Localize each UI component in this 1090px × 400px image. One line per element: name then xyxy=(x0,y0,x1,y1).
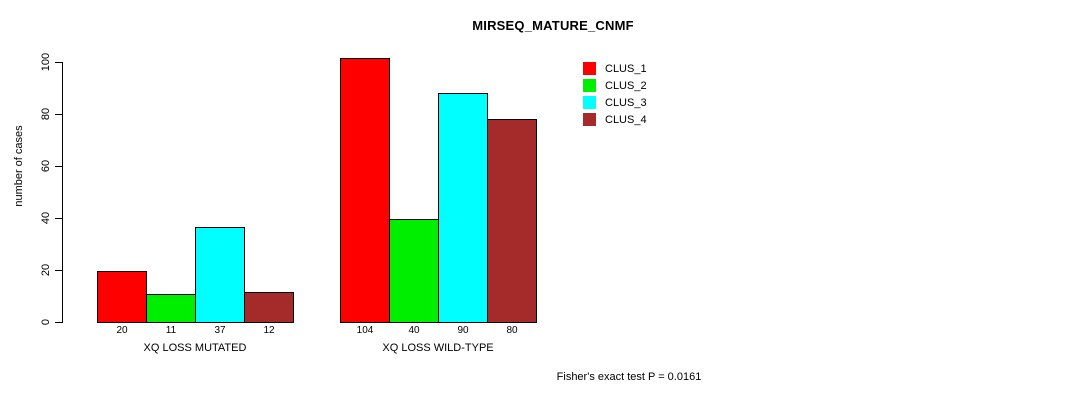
bar-clus1-wildtype xyxy=(340,58,390,323)
bar-clus4-wildtype xyxy=(487,119,537,323)
legend-label-clus1: CLUS_1 xyxy=(605,63,647,75)
legend-item-clus2: CLUS_2 xyxy=(583,77,647,94)
bar-value-label: 90 xyxy=(438,325,488,336)
plot-area: 20 11 37 12 XQ LOSS MUTATED 104 40 90 80… xyxy=(0,0,1090,400)
bar-clus3-wildtype xyxy=(438,93,488,323)
legend: CLUS_1 CLUS_2 CLUS_3 CLUS_4 xyxy=(583,60,647,128)
bar-value-label: 37 xyxy=(195,325,245,336)
legend-item-clus1: CLUS_1 xyxy=(583,60,647,77)
legend-label-clus4: CLUS_4 xyxy=(605,114,647,126)
bar-value-label: 40 xyxy=(389,325,439,336)
group-label-wildtype: XQ LOSS WILD-TYPE xyxy=(338,342,538,354)
bar-value-label: 12 xyxy=(244,325,294,336)
statistical-test-note: Fisher's exact test P = 0.0161 xyxy=(84,371,1090,383)
bar-clus2-wildtype xyxy=(389,219,439,323)
bar-clus3-mutated xyxy=(195,227,245,323)
bar-value-label: 11 xyxy=(146,325,196,336)
legend-item-clus3: CLUS_3 xyxy=(583,94,647,111)
bar-value-label: 20 xyxy=(97,325,147,336)
legend-item-clus4: CLUS_4 xyxy=(583,111,647,128)
legend-swatch-clus2 xyxy=(583,79,596,92)
bar-value-label: 80 xyxy=(487,325,537,336)
legend-swatch-clus4 xyxy=(583,113,596,126)
bar-clus2-mutated xyxy=(146,294,196,323)
legend-label-clus2: CLUS_2 xyxy=(605,80,647,92)
legend-swatch-clus1 xyxy=(583,62,596,75)
bar-clus1-mutated xyxy=(97,271,147,323)
chart-canvas: MIRSEQ_MATURE_CNMF number of cases 0 20 … xyxy=(0,0,1090,400)
group-label-mutated: XQ LOSS MUTATED xyxy=(95,342,295,354)
legend-label-clus3: CLUS_3 xyxy=(605,97,647,109)
legend-swatch-clus3 xyxy=(583,96,596,109)
bar-value-label: 104 xyxy=(340,325,390,336)
bar-clus4-mutated xyxy=(244,292,294,323)
